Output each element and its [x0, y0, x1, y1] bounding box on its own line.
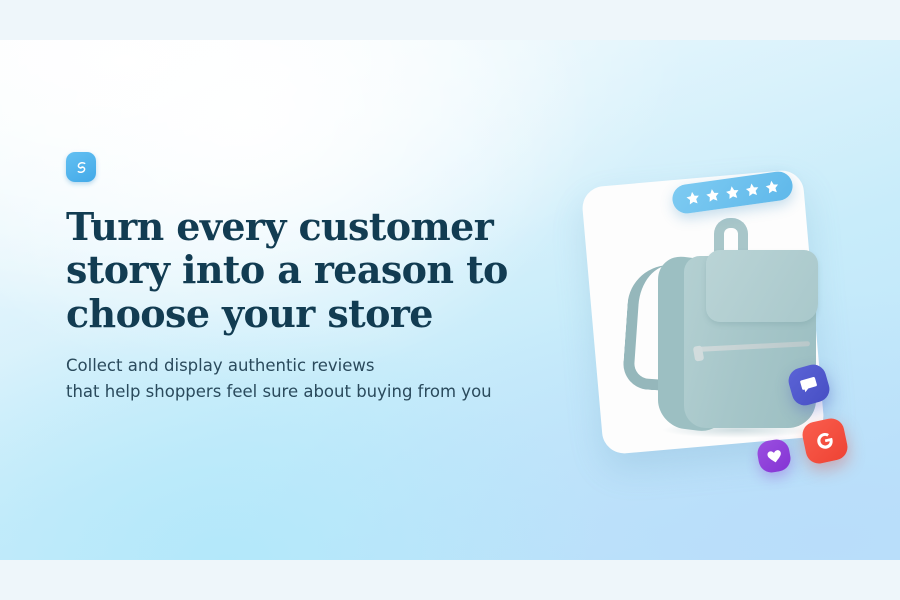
- star-icon: [704, 187, 721, 204]
- star-icon: [684, 190, 701, 207]
- hero-subheading: Collect and display authentic reviews th…: [66, 353, 536, 404]
- hero-copy-column: Turn every customer story into a reason …: [66, 152, 536, 404]
- subheading-line-1: Collect and display authentic reviews: [66, 353, 536, 379]
- chat-bubble-icon: [797, 373, 822, 398]
- backpack-icon: [618, 218, 826, 440]
- favorite-badge: [755, 437, 792, 474]
- star-icon: [724, 184, 741, 201]
- google-review-badge: [800, 416, 850, 466]
- hero-panel: Turn every customer story into a reason …: [0, 40, 900, 560]
- google-g-icon: [812, 428, 838, 454]
- star-icon: [764, 178, 781, 195]
- brand-loop-icon: [66, 152, 96, 182]
- backpack-flap: [706, 250, 818, 322]
- banner-frame: Turn every customer story into a reason …: [0, 0, 900, 600]
- product-showcase: [556, 100, 886, 520]
- page-title: Turn every customer story into a reason …: [66, 205, 536, 335]
- subheading-line-2: that help shoppers feel sure about buyin…: [66, 379, 536, 405]
- star-icon: [744, 181, 761, 198]
- heart-icon: [764, 446, 784, 466]
